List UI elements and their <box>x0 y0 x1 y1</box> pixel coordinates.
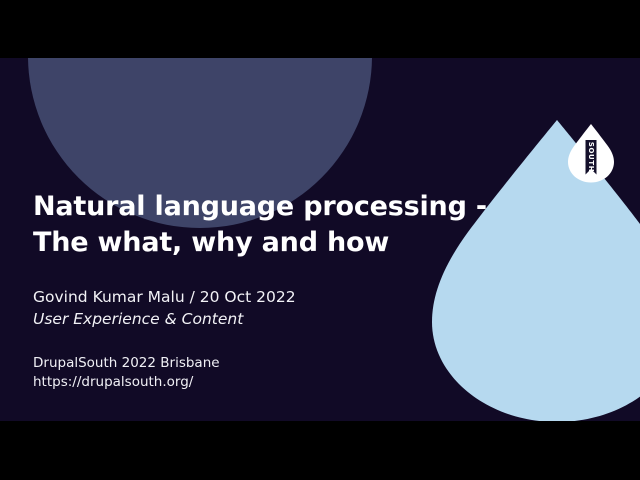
presenter-name-and-date: Govind Kumar Malu / 20 Oct 2022 <box>33 286 503 308</box>
slide-content-area: SOUTH Natural language processing - The … <box>0 58 640 421</box>
slide-text-block: Natural language processing - The what, … <box>33 189 503 392</box>
presentation-slide-frame: SOUTH Natural language processing - The … <box>0 0 640 480</box>
slide-title: Natural language processing - The what, … <box>33 189 503 261</box>
event-name: DrupalSouth 2022 Brisbane <box>33 354 503 373</box>
presenter-block: Govind Kumar Malu / 20 Oct 2022 User Exp… <box>33 286 503 330</box>
logo-ribbon-text: SOUTH <box>587 142 595 172</box>
event-url: https://drupalsouth.org/ <box>33 373 503 392</box>
presenter-role: User Experience & Content <box>33 308 503 330</box>
event-block: DrupalSouth 2022 Brisbane https://drupal… <box>33 354 503 392</box>
drupalsouth-droplet-logo: SOUTH <box>568 124 614 184</box>
svg-text:SOUTH: SOUTH <box>587 142 595 172</box>
